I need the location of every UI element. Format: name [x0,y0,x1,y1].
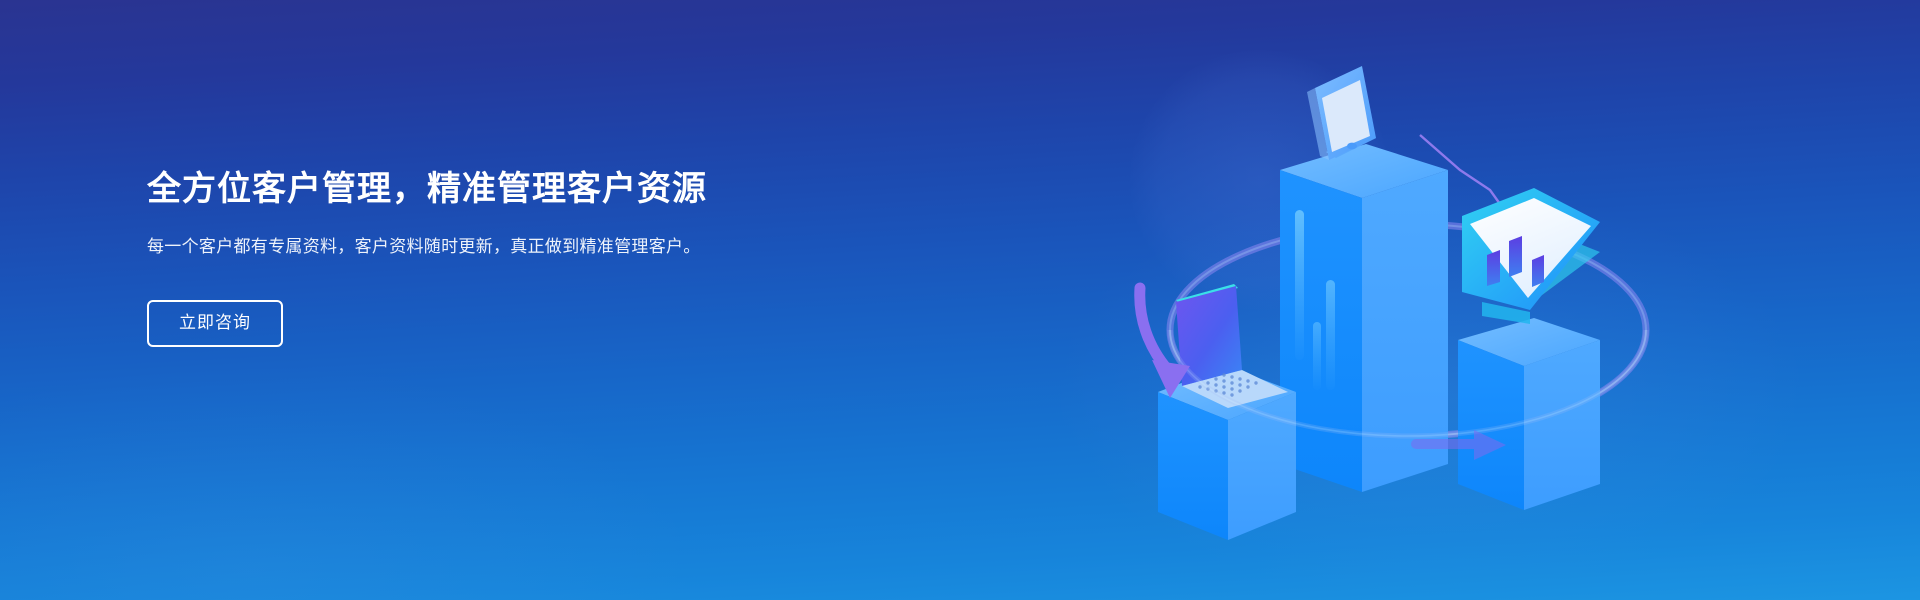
laptop-device [1176,284,1288,408]
monitor-device [1462,188,1600,324]
consult-now-button[interactable]: 立即咨询 [147,300,283,347]
page-title: 全方位客户管理，精准管理客户资源 [147,168,787,211]
hero-illustration [1130,40,1690,560]
hero-copy-block: 全方位客户管理，精准管理客户资源 每一个客户都有专属资料，客户资料随时更新，真正… [147,168,787,347]
pedestal-right [1458,318,1600,510]
background-glow-ellipse-left [0,360,700,600]
hero-banner: 全方位客户管理，精准管理客户资源 每一个客户都有专属资料，客户资料随时更新，真正… [0,0,1920,600]
hero-subtitle: 每一个客户都有专属资料，客户资料随时更新，真正做到精准管理客户。 [147,234,732,260]
